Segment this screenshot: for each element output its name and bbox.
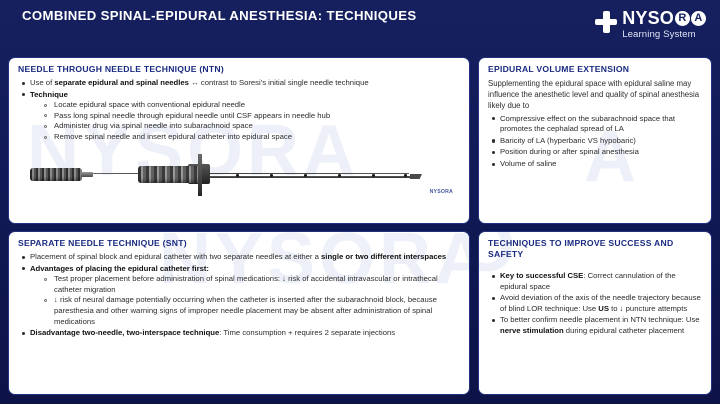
list-item: Pass long spinal needle through epidural… <box>40 111 461 122</box>
list-item: Administer drug via spinal needle into s… <box>40 121 461 132</box>
logo-text: NYSO R A Learning System <box>622 9 706 40</box>
bullet-text: Volume of saline <box>500 159 556 168</box>
logo-subtitle: Learning System <box>622 29 706 40</box>
panel-needle-through-needle: NYSORA NEEDLE THROUGH NEEDLE TECHNIQUE (… <box>8 57 470 224</box>
panel-title-tis: TECHNIQUES TO IMPROVE SUCCESS AND SAFETY <box>488 238 703 260</box>
bullet-text: Compressive effect on the subarachnoid s… <box>500 114 675 134</box>
bullet-text: Key to successful CSE: Correct cannulati… <box>500 271 676 291</box>
list-item: Volume of saline <box>488 159 703 170</box>
bullet-text: Baricity of LA (hyperbaric VS hypobaric) <box>500 136 636 145</box>
bullet-text: Position during or after spinal anesthes… <box>500 147 639 156</box>
bullet-text: Placement of spinal block and epidural c… <box>30 252 446 261</box>
logo-r-badge: R <box>675 11 690 26</box>
bullet-text: Disadvantage two-needle, two-interspace … <box>30 328 395 337</box>
bullet-text: Locate epidural space with conventional … <box>54 100 245 109</box>
slide: COMBINED SPINAL-EPIDURAL ANESTHESIA: TEC… <box>0 0 720 404</box>
list-item: Test proper placement before administrat… <box>40 274 461 295</box>
list-item: ↓ risk of neural damage potentially occu… <box>40 295 461 327</box>
page-title: COMBINED SPINAL-EPIDURAL ANESTHESIA: TEC… <box>22 8 452 25</box>
spinal-needle-hub <box>30 168 82 181</box>
bullet-text: Pass long spinal needle through epidural… <box>54 111 330 120</box>
list-item: Use of separate epidural and spinal need… <box>18 78 461 89</box>
bullet-list-ntn: Use of separate epidural and spinal need… <box>18 78 461 143</box>
bullet-text: Technique <box>30 90 68 99</box>
bullet-text: Administer drug via spinal needle into s… <box>54 121 253 130</box>
logo-a-badge: A <box>691 11 706 26</box>
list-item: Locate epidural space with conventional … <box>40 100 461 111</box>
list-item: Remove spinal needle and insert epidural… <box>40 132 461 143</box>
sub-bullet-list: Locate epidural space with conventional … <box>40 100 461 142</box>
panel-title-ntn: NEEDLE THROUGH NEEDLE TECHNIQUE (NTN) <box>18 64 461 75</box>
slide-header: COMBINED SPINAL-EPIDURAL ANESTHESIA: TEC… <box>0 0 720 54</box>
bullet-text: Remove spinal needle and insert epidural… <box>54 132 292 141</box>
list-item: Avoid deviation of the axis of the needl… <box>488 293 703 314</box>
bullet-list-eve: Compressive effect on the subarachnoid s… <box>488 114 703 170</box>
bullet-text: Avoid deviation of the axis of the needl… <box>500 293 701 313</box>
bullet-text: Advantages of placing the epidural cathe… <box>30 264 209 273</box>
panel-techniques-improve-success-safety: O TECHNIQUES TO IMPROVE SUCCESS AND SAFE… <box>478 231 712 395</box>
list-item: Disadvantage two-needle, two-interspace … <box>18 328 461 339</box>
needle-shaft <box>79 173 409 175</box>
panel-epidural-volume-extension: A EPIDURAL VOLUME EXTENSION Supplementin… <box>478 57 712 224</box>
logo-main-text: NYSO <box>622 9 674 28</box>
list-item: Technique Locate epidural space with con… <box>18 90 461 143</box>
needle-tip <box>410 174 434 179</box>
panel-lead-text: Supplementing the epidural space with ep… <box>488 78 703 112</box>
list-item: Compressive effect on the subarachnoid s… <box>488 114 703 135</box>
list-item: Placement of spinal block and epidural c… <box>18 252 461 263</box>
nysora-logo: NYSO R A Learning System <box>595 9 706 45</box>
bullet-text: Use of separate epidural and spinal need… <box>30 78 369 87</box>
panel-title-eve: EPIDURAL VOLUME EXTENSION <box>488 64 703 75</box>
list-item: Baricity of LA (hyperbaric VS hypobaric) <box>488 136 703 147</box>
needle-through-needle-photo: NYSORA <box>18 146 461 198</box>
bullet-list-snt: Placement of spinal block and epidural c… <box>18 252 461 339</box>
list-item: Key to successful CSE: Correct cannulati… <box>488 271 703 292</box>
list-item: Advantages of placing the epidural cathe… <box>18 264 461 328</box>
panel-title-snt: SEPARATE NEEDLE TECHNIQUE (SNT) <box>18 238 461 249</box>
plus-cross-icon <box>595 11 617 33</box>
bullet-text: ↓ risk of neural damage potentially occu… <box>54 295 437 325</box>
figure-watermark: NYSORA <box>430 189 453 195</box>
bullet-text: Test proper placement before administrat… <box>54 274 438 294</box>
bullet-list-tis: Key to successful CSE: Correct cannulati… <box>488 271 703 337</box>
logo-wordmark: NYSO R A <box>622 9 706 28</box>
list-item: To better confirm needle placement in NT… <box>488 315 703 336</box>
sub-bullet-list: Test proper placement before administrat… <box>40 274 461 327</box>
list-item: Position during or after spinal anesthes… <box>488 147 703 158</box>
panel-separate-needle-technique: NYSORA SEPARATE NEEDLE TECHNIQUE (SNT) P… <box>8 231 470 395</box>
needle-wing <box>198 154 202 196</box>
epidural-needle-hub <box>138 166 200 183</box>
bullet-text: To better confirm needle placement in NT… <box>500 315 700 335</box>
